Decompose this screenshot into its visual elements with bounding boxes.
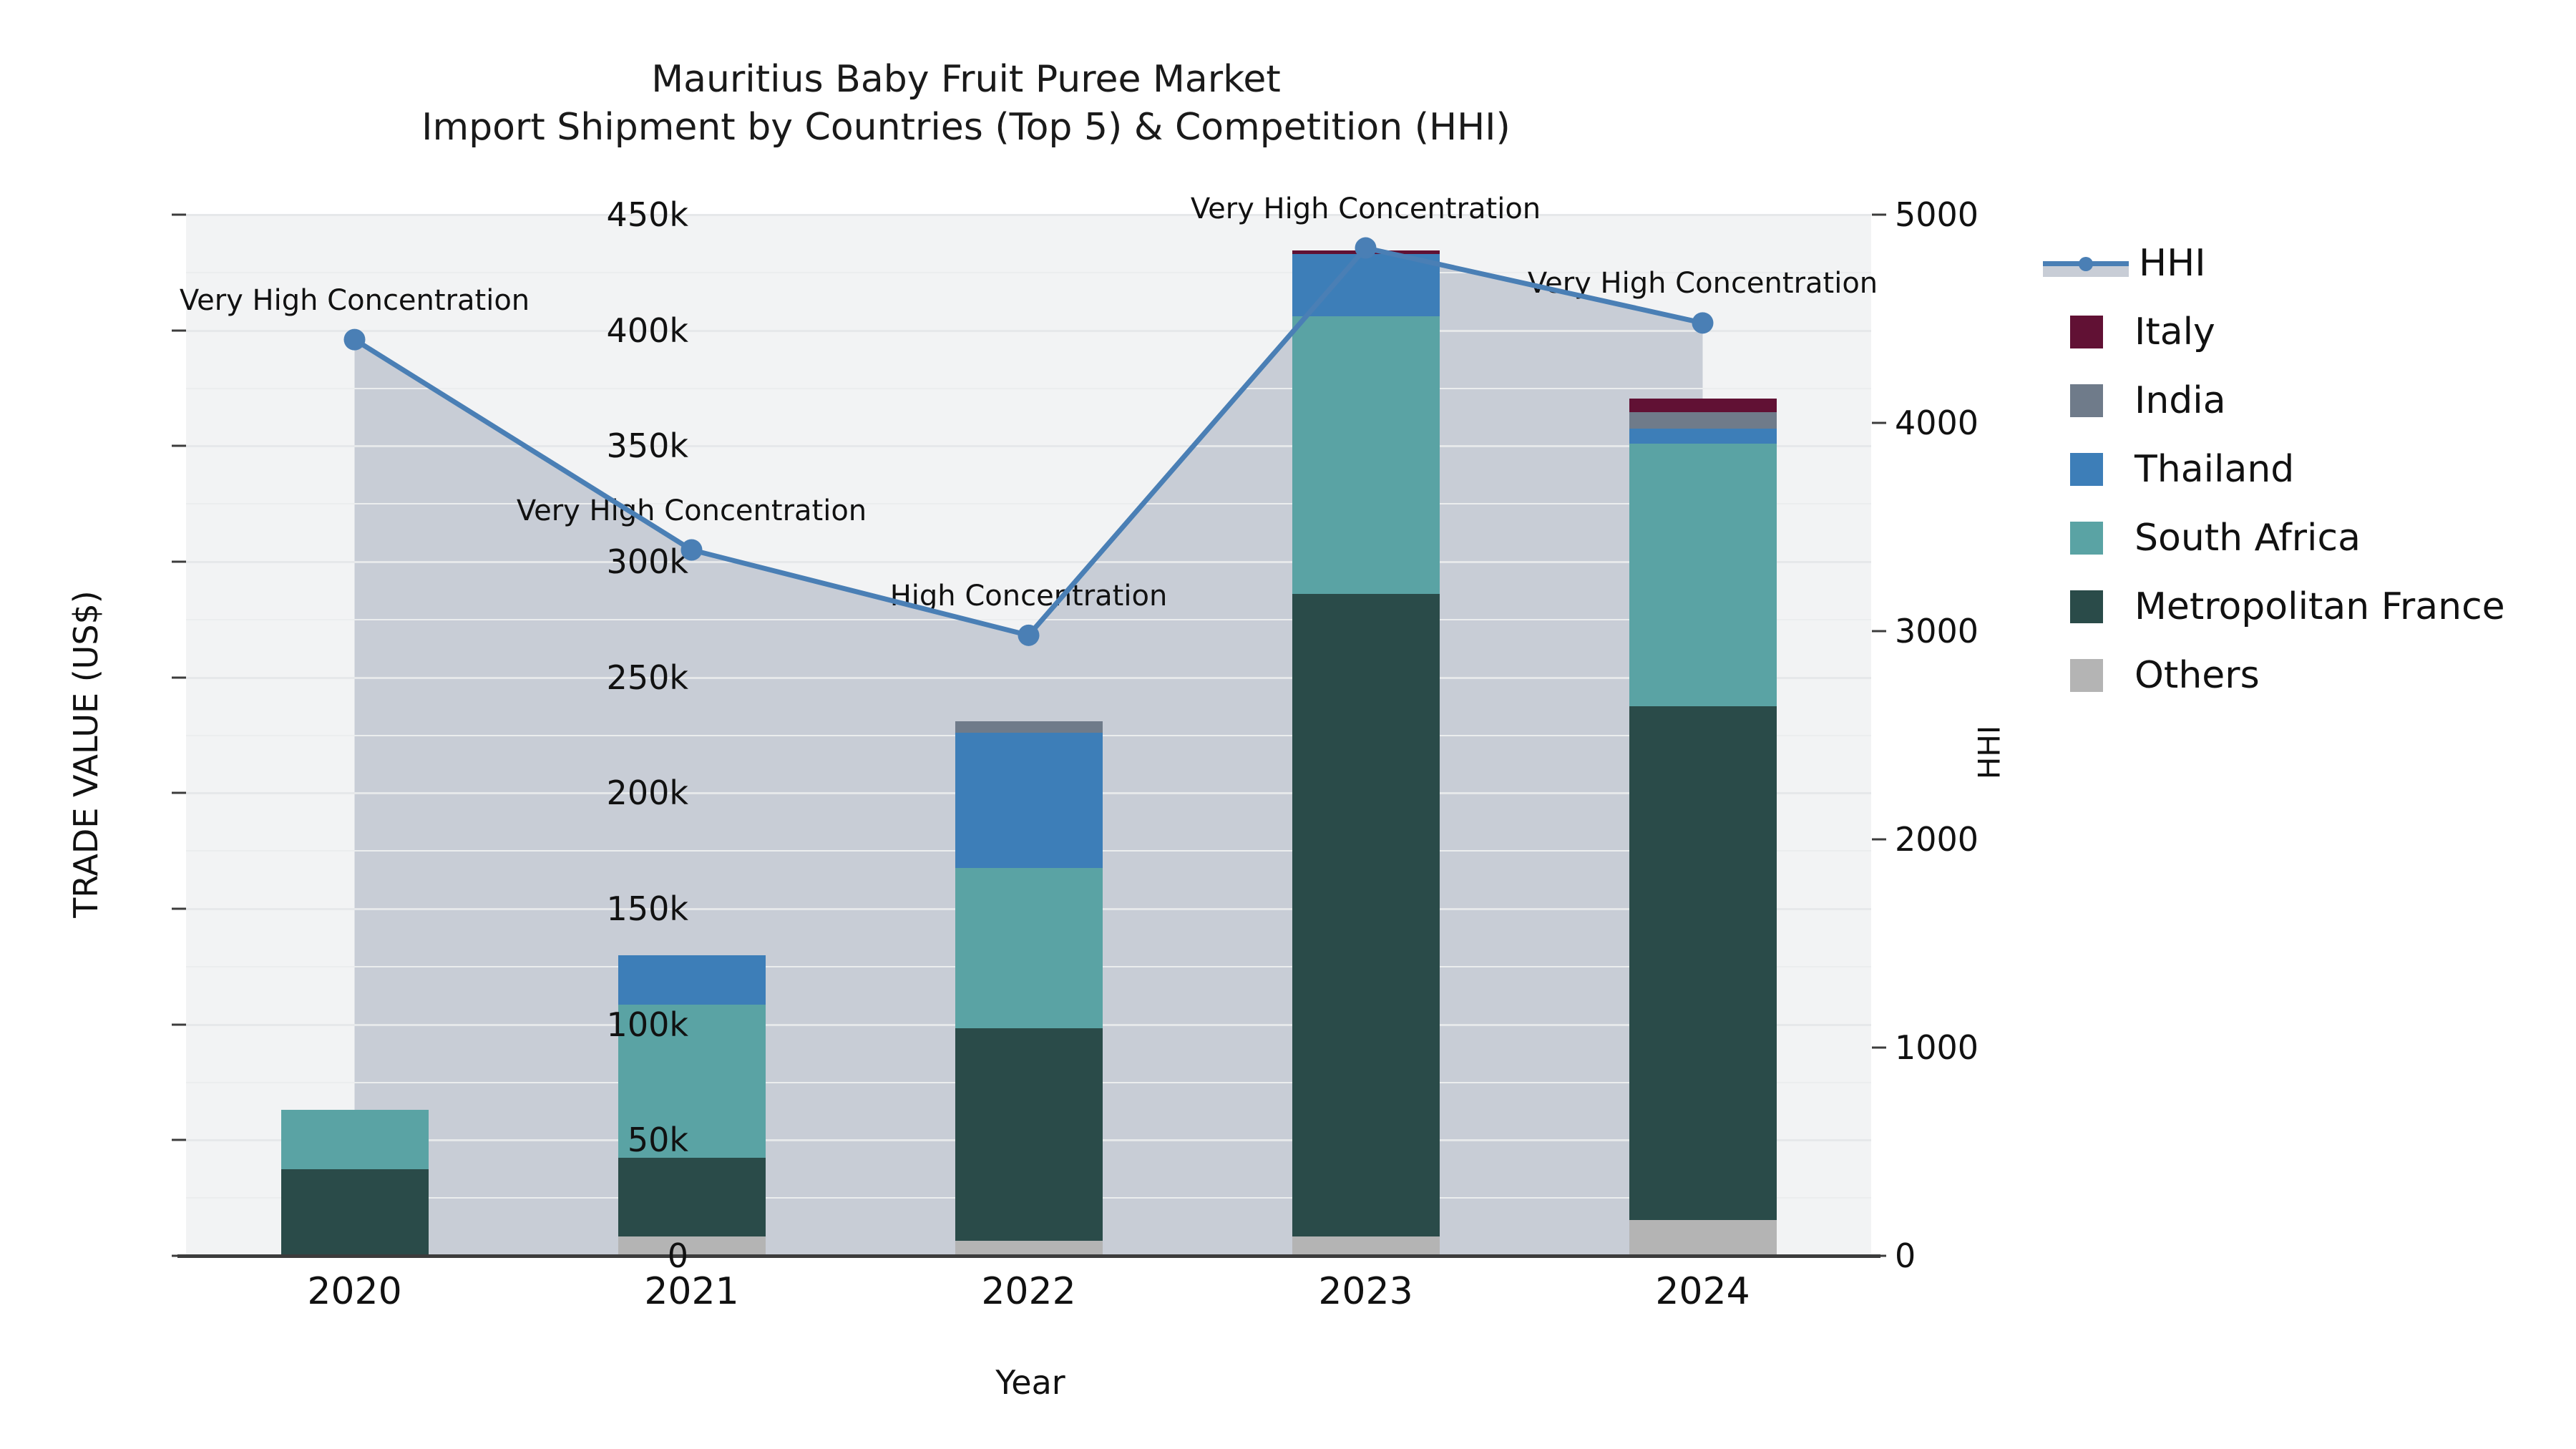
legend-item-india[interactable]: India bbox=[2043, 366, 2558, 435]
y-axis-left-tick-mark bbox=[172, 792, 186, 794]
y-axis-right-tick-mark bbox=[1872, 1047, 1886, 1049]
y-axis-left-tick-mark bbox=[172, 908, 186, 910]
gridline bbox=[186, 503, 1871, 504]
legend-line-marker bbox=[2079, 257, 2093, 271]
bar-segment-south-africa-2024[interactable] bbox=[1629, 444, 1777, 706]
y-axis-left-tick-mark bbox=[172, 329, 186, 331]
bar-segment-thailand-2021[interactable] bbox=[618, 955, 766, 1005]
legend-label: Others bbox=[2135, 654, 2260, 697]
legend-label: South Africa bbox=[2135, 517, 2361, 560]
legend-item-thailand[interactable]: Thailand bbox=[2043, 435, 2558, 504]
legend-swatch bbox=[2070, 659, 2103, 692]
bar-segment-metropolitan-france-2023[interactable] bbox=[1292, 594, 1440, 1236]
legend-item-italy[interactable]: Italy bbox=[2043, 298, 2558, 366]
y-axis-left-tick-mark bbox=[172, 1139, 186, 1141]
legend-label: India bbox=[2135, 379, 2226, 422]
hhi-annotation-2024: Very High Concentration bbox=[1528, 267, 1878, 300]
legend-swatch bbox=[2070, 590, 2103, 623]
y-axis-right-tick-mark bbox=[1872, 630, 1886, 633]
hhi-annotation-2022: High Concentration bbox=[890, 580, 1168, 613]
y-axis-right-tick-mark bbox=[1872, 422, 1886, 424]
x-axis-label: Year bbox=[0, 1363, 2061, 1402]
legend-label: Italy bbox=[2135, 311, 2215, 353]
y-axis-left-tick-mark bbox=[172, 561, 186, 563]
legend-swatch bbox=[2070, 453, 2103, 486]
bar-segment-italy-2024[interactable] bbox=[1629, 399, 1777, 412]
bar-segment-others-2023[interactable] bbox=[1292, 1236, 1440, 1256]
y-axis-left-label: TRADE VALUE (US$) bbox=[67, 504, 105, 1005]
legend: HHIItalyIndiaThailandSouth AfricaMetropo… bbox=[2043, 229, 2558, 710]
x-axis-tick-2021: 2021 bbox=[549, 1270, 835, 1313]
legend-label: Metropolitan France bbox=[2135, 585, 2505, 628]
y-axis-left-tick-label: 350k bbox=[388, 426, 688, 465]
y-axis-left-tick-label: 100k bbox=[388, 1005, 688, 1044]
bar-segment-others-2022[interactable] bbox=[955, 1241, 1103, 1256]
gridline bbox=[186, 388, 1871, 389]
bar-segment-others-2024[interactable] bbox=[1629, 1220, 1777, 1256]
legend-line-swatch bbox=[2043, 247, 2129, 280]
y-axis-left-tick-label: 400k bbox=[388, 311, 688, 350]
y-axis-left-tick-label: 150k bbox=[388, 889, 688, 928]
legend-item-others[interactable]: Others bbox=[2043, 641, 2558, 710]
y-axis-left-tick-mark bbox=[172, 214, 186, 216]
bar-segment-india-2022[interactable] bbox=[955, 721, 1103, 733]
bar-segment-thailand-2022[interactable] bbox=[955, 733, 1103, 868]
legend-swatch bbox=[2070, 384, 2103, 417]
y-axis-left-tick-label: 200k bbox=[388, 774, 688, 812]
chart-title-line-1: Mauritius Baby Fruit Puree Market bbox=[0, 56, 1932, 104]
y-axis-right-tick-label: 0 bbox=[1895, 1236, 2195, 1275]
x-axis-tick-2024: 2024 bbox=[1560, 1270, 1846, 1313]
bar-segment-metropolitan-france-2021[interactable] bbox=[618, 1158, 766, 1236]
y-axis-right-tick-label: 2000 bbox=[1895, 820, 2195, 859]
legend-swatch bbox=[2070, 316, 2103, 348]
y-axis-right-tick-mark bbox=[1872, 214, 1886, 216]
bar-segment-thailand-2024[interactable] bbox=[1629, 429, 1777, 444]
y-axis-left-tick-label: 0 bbox=[388, 1236, 688, 1275]
y-axis-right-tick-mark bbox=[1872, 1255, 1886, 1257]
y-axis-left-tick-mark bbox=[172, 676, 186, 678]
gridline bbox=[186, 619, 1871, 620]
y-axis-left-tick-label: 300k bbox=[388, 542, 688, 581]
chart-canvas: Mauritius Baby Fruit Puree Market Import… bbox=[0, 0, 2576, 1449]
y-axis-left-tick-label: 50k bbox=[388, 1121, 688, 1159]
legend-item-south-africa[interactable]: South Africa bbox=[2043, 504, 2558, 572]
chart-title-line-2: Import Shipment by Countries (Top 5) & C… bbox=[0, 104, 1932, 152]
bar-segment-metropolitan-france-2024[interactable] bbox=[1629, 706, 1777, 1220]
bar-segment-thailand-2023[interactable] bbox=[1292, 254, 1440, 316]
hhi-annotation-2021: Very High Concentration bbox=[517, 494, 867, 527]
chart-title: Mauritius Baby Fruit Puree Market Import… bbox=[0, 56, 1932, 151]
y-axis-right-tick-mark bbox=[1872, 839, 1886, 841]
hhi-annotation-2020: Very High Concentration bbox=[180, 284, 530, 317]
y-axis-left-tick-label: 450k bbox=[388, 195, 688, 234]
legend-label: HHI bbox=[2139, 242, 2206, 285]
y-axis-left-tick-label: 250k bbox=[388, 658, 688, 697]
x-axis-tick-2022: 2022 bbox=[886, 1270, 1172, 1313]
y-axis-right-label: HHI bbox=[1972, 595, 2007, 910]
y-axis-left-tick-mark bbox=[172, 445, 186, 447]
bar-segment-india-2024[interactable] bbox=[1629, 412, 1777, 429]
legend-label: Thailand bbox=[2135, 448, 2294, 491]
hhi-annotation-2023: Very High Concentration bbox=[1191, 192, 1541, 225]
bar-segment-metropolitan-france-2022[interactable] bbox=[955, 1028, 1103, 1241]
y-axis-right-tick-label: 5000 bbox=[1895, 195, 2195, 234]
legend-swatch bbox=[2070, 522, 2103, 555]
x-axis-tick-2023: 2023 bbox=[1223, 1270, 1509, 1313]
bar-segment-south-africa-2022[interactable] bbox=[955, 868, 1103, 1028]
bar-segment-south-africa-2023[interactable] bbox=[1292, 316, 1440, 594]
x-axis-tick-2020: 2020 bbox=[212, 1270, 498, 1313]
y-axis-left-tick-mark bbox=[172, 1255, 186, 1257]
legend-item-metropolitan-france[interactable]: Metropolitan France bbox=[2043, 572, 2558, 641]
y-axis-right-tick-label: 1000 bbox=[1895, 1028, 2195, 1067]
y-axis-left-tick-mark bbox=[172, 1023, 186, 1025]
bar-segment-italy-2023[interactable] bbox=[1292, 250, 1440, 254]
plot-area bbox=[186, 215, 1871, 1256]
legend-item-hhi[interactable]: HHI bbox=[2043, 229, 2558, 298]
